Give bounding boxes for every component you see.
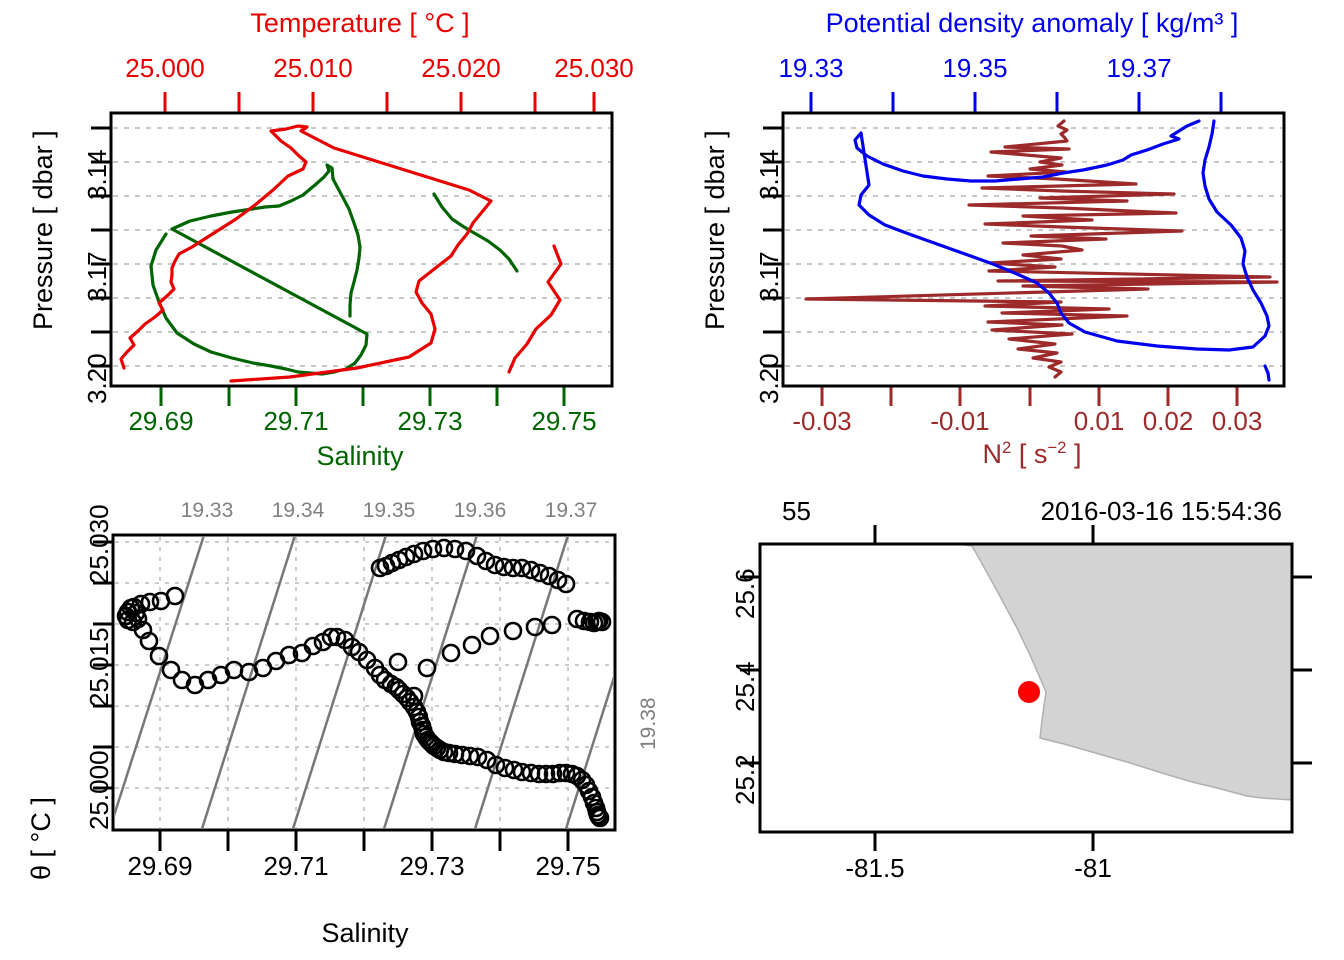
- theta-tick-25030: 25.030: [86, 504, 112, 584]
- figure-canvas: Temperature [ °C ] Salinity Pressure [ d…: [0, 0, 1344, 960]
- pressure-tick-320-left: 3.20: [84, 353, 110, 404]
- salinity-tick-2969: 29.69: [128, 408, 193, 434]
- isopycnal-label-1936: 19.36: [454, 500, 507, 521]
- density-tick-1933: 19.33: [778, 55, 843, 81]
- isopycnal-label-1938-side: 19.38: [638, 697, 659, 750]
- land-polygon: [958, 544, 1292, 800]
- ts-salinity-tick-2971: 29.71: [263, 853, 328, 879]
- n2-tick-003: 0.03: [1212, 408, 1263, 434]
- grid-rho-n2: [785, 128, 1282, 366]
- pressure-tick-314-left: 3.14: [84, 149, 110, 200]
- temperature-tick-25030: 25.030: [554, 55, 634, 81]
- temperature-tick-25000: 25.000: [125, 55, 205, 81]
- plot-frame-rho-n2: [783, 113, 1284, 386]
- latitude-tick-254: 25.4: [732, 661, 758, 712]
- station-map-svg: [672, 480, 1344, 960]
- pressure-tick-320-right: 3.20: [756, 353, 782, 404]
- panel-density-n2-profile: Potential density anomaly [ kg/m³ ] N2 […: [672, 0, 1344, 480]
- n2-tick-neg003: -0.03: [792, 408, 851, 434]
- latitude-tick-252: 25.2: [732, 754, 758, 805]
- temperature-profile-line: [121, 126, 491, 381]
- density-tick-1937: 19.37: [1106, 55, 1171, 81]
- isopycnal-label-1933: 19.33: [181, 500, 234, 521]
- latitude-tick-256: 25.6: [732, 568, 758, 619]
- pressure-tick-317-right: 3.17: [756, 251, 782, 302]
- ts-salinity-tick-2969: 29.69: [127, 853, 192, 879]
- n2-tick-002: 0.02: [1143, 408, 1194, 434]
- theta-tick-25015: 25.015: [86, 627, 112, 707]
- salinity-axis-ticks: [161, 386, 564, 406]
- temperature-tick-25020: 25.020: [421, 55, 501, 81]
- temperature-axis-ticks: [111, 92, 612, 113]
- theta-tick-25000: 25.000: [86, 750, 112, 830]
- map-right-ticks: [1292, 577, 1312, 763]
- density-profile-tail: [1265, 366, 1269, 380]
- station-marker-dot: [1018, 681, 1040, 703]
- salinity-tick-2973: 29.73: [397, 408, 462, 434]
- n2-tick-001: 0.01: [1074, 408, 1125, 434]
- n2-axis-ticks: [822, 386, 1237, 406]
- n2-tick-neg001: -0.01: [930, 408, 989, 434]
- salinity-axis-ticks-ts-diagram: [160, 830, 568, 851]
- isopycnal-label-1934: 19.34: [272, 500, 325, 521]
- panel-ts-diagram: Salinity θ [ °C ]: [0, 480, 672, 960]
- panel-station-map: 55 2016-03-16 15:54:36: [672, 480, 1344, 960]
- isopycnal-label-1935: 19.35: [363, 500, 416, 521]
- pressure-tick-317-left: 3.17: [84, 251, 110, 302]
- ts-salinity-tick-2973: 29.73: [399, 853, 464, 879]
- isopycnal-label-1937: 19.37: [545, 500, 598, 521]
- ts-salinity-tick-2975: 29.75: [535, 853, 600, 879]
- salinity-tick-2975: 29.75: [531, 408, 596, 434]
- density-tick-1935: 19.35: [942, 55, 1007, 81]
- map-bottom-ticks: [875, 832, 1093, 851]
- salinity-tick-2971: 29.71: [263, 408, 328, 434]
- longitude-tick-neg815: -81.5: [845, 855, 904, 881]
- map-top-ticks: [875, 525, 1093, 544]
- density-axis-ticks: [783, 92, 1284, 113]
- temperature-tick-25010: 25.010: [273, 55, 353, 81]
- longitude-tick-neg81: -81: [1074, 855, 1112, 881]
- pressure-tick-314-right: 3.14: [756, 149, 782, 200]
